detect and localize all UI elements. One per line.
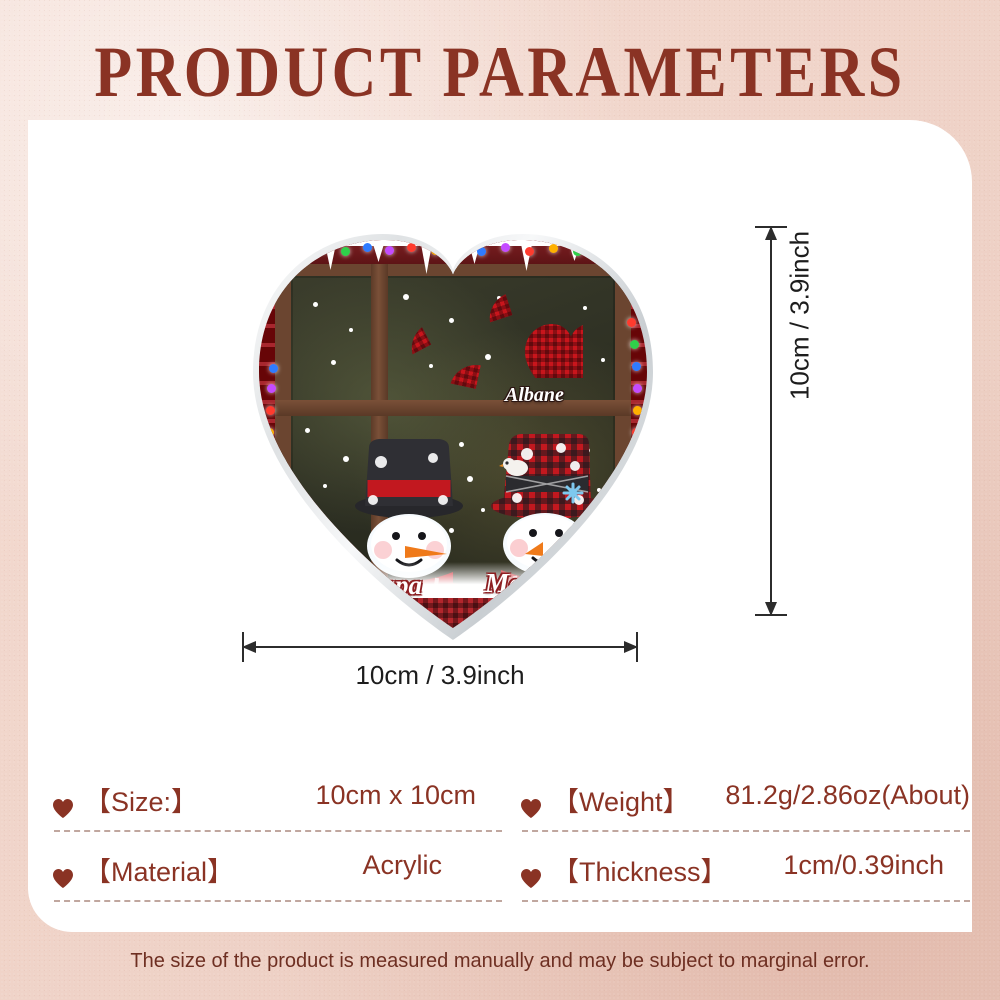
plaid-snow-band (253, 598, 653, 628)
spec-divider (54, 900, 502, 902)
spec-divider (522, 830, 970, 832)
snowflake-icon (323, 484, 327, 488)
snowflake-icon (429, 364, 433, 368)
spec-key-label: 【Size:】 (84, 780, 198, 819)
spec-divider (522, 900, 970, 902)
christmas-light-icon (299, 248, 308, 257)
page-title: PRODUCT PARAMETERS (70, 36, 930, 108)
snowflake-icon (313, 302, 318, 307)
spec-column-right: 【Weight】 81.2g/2.86oz(About) 【Thickness】… (520, 770, 972, 902)
christmas-light-icon (623, 494, 632, 503)
footer-note: The size of the product is measured manu… (0, 950, 1000, 973)
snowflake-icon (331, 360, 336, 365)
christmas-light-icon (627, 318, 636, 327)
christmas-light-icon (633, 384, 642, 393)
dim-line-vertical (770, 228, 772, 616)
christmas-light-icon (453, 243, 462, 252)
product-image: Albane (243, 222, 663, 640)
heart-bullet-icon (520, 798, 542, 818)
snowflake-icon (601, 358, 605, 362)
dimension-vertical-label: 10cm / 3.9inch (785, 216, 816, 416)
spec-value-thickness: 1cm/0.39inch (783, 850, 944, 881)
spec-table: 【Size:】 10cm x 10cm 【Material】 Acrylic 【… (28, 770, 972, 910)
christmas-light-icon (549, 244, 558, 253)
printed-artwork: Albane (253, 232, 653, 628)
spec-row-size: 【Size:】 10cm x 10cm (52, 770, 504, 832)
spec-key-label: 【Material】 (84, 850, 234, 889)
snowflake-icon (305, 428, 310, 433)
christmas-light-icon (267, 384, 276, 393)
spec-value-weight: 81.2g/2.86oz(About) (725, 780, 970, 811)
dim-arrow-left-icon (242, 639, 258, 655)
christmas-light-icon (268, 494, 277, 503)
christmas-light-icon (341, 247, 350, 256)
snowflake-icon (583, 306, 587, 310)
heart-bullet-icon (52, 798, 74, 818)
christmas-light-icon (271, 516, 280, 525)
spec-divider (54, 830, 502, 832)
christmas-light-icon (501, 243, 510, 252)
christmas-light-icon (632, 362, 641, 371)
christmas-light-icon (630, 340, 639, 349)
christmas-light-icon (269, 364, 278, 373)
spec-column-left: 【Size:】 10cm x 10cm 【Material】 Acrylic (52, 770, 504, 902)
snowflake-icon (449, 318, 454, 323)
window-mullion-horizontal (275, 400, 631, 416)
snowflake-icon (349, 328, 353, 332)
christmas-light-icon (627, 472, 636, 481)
heart-bullet-icon (520, 868, 542, 888)
spec-value-material: Acrylic (363, 850, 443, 881)
christmas-light-icon (266, 406, 275, 415)
christmas-light-icon (525, 247, 534, 256)
dim-arrow-right-icon (622, 639, 638, 655)
christmas-light-icon (265, 450, 274, 459)
christmas-light-icon (407, 243, 416, 252)
spec-key-label: 【Weight】 (552, 780, 690, 819)
spec-row-material: 【Material】 Acrylic (52, 840, 504, 902)
dimension-horizontal-label: 10cm / 3.9inch (240, 660, 640, 691)
christmas-light-icon (597, 244, 606, 253)
personalized-name: Albane (505, 384, 564, 407)
heart-plaque: Albane (243, 222, 663, 640)
dim-line-horizontal (244, 646, 636, 648)
spec-key-label: 【Thickness】 (552, 850, 728, 889)
christmas-light-icon (275, 538, 284, 547)
christmas-light-icon (385, 246, 394, 255)
dim-arrow-up-icon (763, 226, 779, 242)
heart-bullet-icon (52, 868, 74, 888)
spec-value-size: 10cm x 10cm (315, 780, 476, 811)
christmas-light-icon (266, 472, 275, 481)
spec-row-weight: 【Weight】 81.2g/2.86oz(About) (520, 770, 972, 832)
christmas-light-icon (363, 243, 372, 252)
dim-arrow-down-icon (763, 600, 779, 616)
snowflake-icon (403, 294, 409, 300)
snowflake-icon (485, 354, 491, 360)
page-background: PRODUCT PARAMETERS (0, 0, 1000, 1000)
spec-row-thickness: 【Thickness】 1cm/0.39inch (520, 840, 972, 902)
